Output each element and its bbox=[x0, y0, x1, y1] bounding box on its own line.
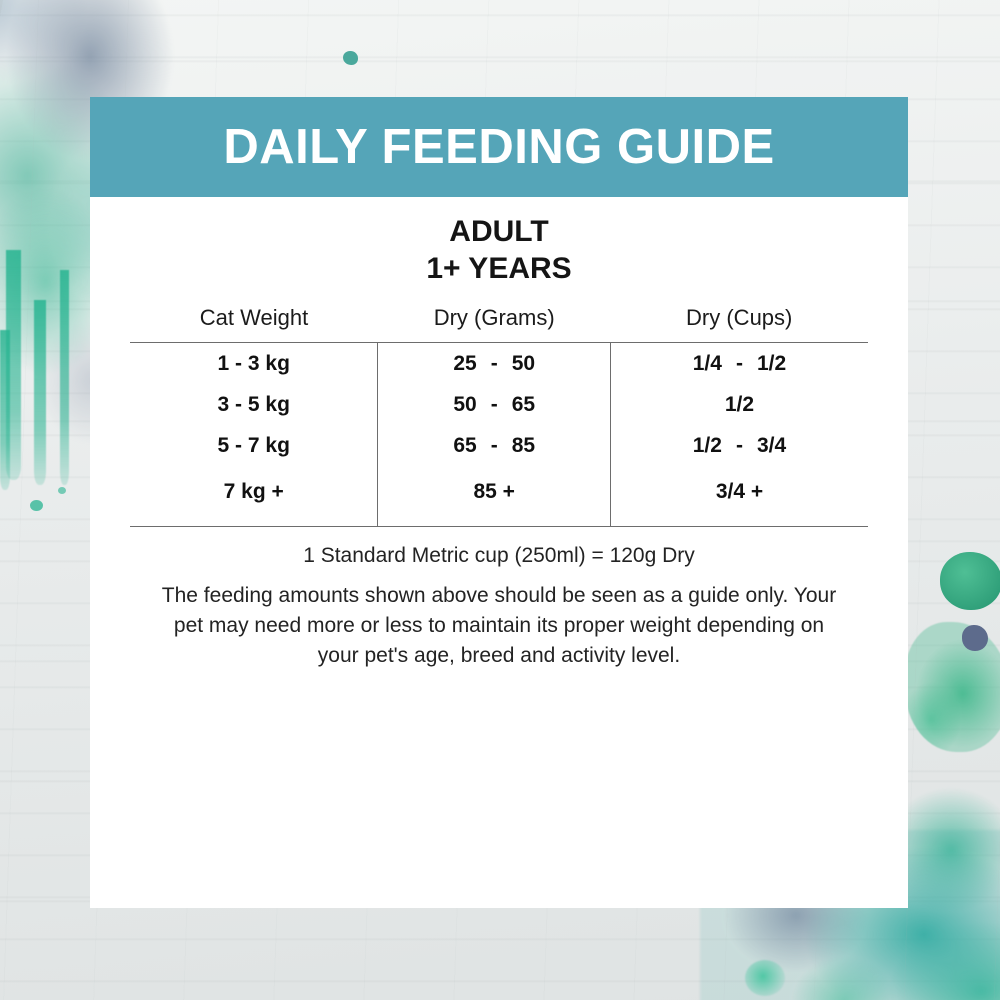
cell-dry-grams: 50 - 65 bbox=[378, 384, 610, 425]
cups-single: 1/2 bbox=[725, 393, 754, 417]
cups-high: 1/2 bbox=[757, 352, 815, 376]
cell-cat-weight: 3 - 5 kg bbox=[130, 384, 378, 425]
watercolor-right-circle bbox=[940, 552, 1000, 610]
cell-dry-grams: 65 - 85 bbox=[378, 425, 610, 466]
watercolor-drip-1 bbox=[6, 250, 21, 480]
table-row: 1 - 3 kg 25 - 50 1/4 - 1/2 bbox=[130, 343, 868, 385]
grams-range: 50 - 65 bbox=[419, 393, 569, 417]
grams-low: 50 bbox=[419, 393, 477, 417]
cell-cat-weight: 1 - 3 kg bbox=[130, 343, 378, 385]
cups-single: 3/4 + bbox=[716, 480, 763, 504]
cell-dry-grams: 25 - 50 bbox=[378, 343, 610, 385]
watercolor-drip-dot-2 bbox=[58, 487, 66, 494]
watercolor-drip-3 bbox=[60, 270, 69, 485]
column-header-cat-weight: Cat Weight bbox=[130, 305, 378, 343]
table-header: Cat Weight Dry (Grams) Dry (Cups) bbox=[130, 305, 868, 343]
grams-range: 65 - 85 bbox=[419, 434, 569, 458]
watercolor-drip-dot-1 bbox=[30, 500, 43, 511]
table-row: 3 - 5 kg 50 - 65 1/2 bbox=[130, 384, 868, 425]
watercolor-drip-2 bbox=[34, 300, 46, 485]
watercolor-right-middle bbox=[905, 622, 1000, 752]
life-stage-heading: ADULT 1+ YEARS bbox=[90, 214, 908, 287]
watercolor-dot-top bbox=[343, 51, 358, 65]
grams-range: 25 - 50 bbox=[419, 352, 569, 376]
cell-dry-cups: 1/2 - 3/4 bbox=[610, 425, 868, 466]
cell-dry-grams: 85 + bbox=[378, 466, 610, 527]
grams-single: 85 + bbox=[473, 480, 514, 504]
cup-equivalence-note: 1 Standard Metric cup (250ml) = 120g Dry bbox=[90, 544, 908, 568]
grams-high: 50 bbox=[512, 352, 570, 376]
grams-dash: - bbox=[491, 352, 498, 376]
grams-high: 85 bbox=[512, 434, 570, 458]
cups-dash: - bbox=[736, 434, 743, 458]
life-stage-secondary: 1+ YEARS bbox=[90, 251, 908, 288]
feeding-disclaimer: The feeding amounts shown above should b… bbox=[152, 581, 846, 670]
table-row: 7 kg + 85 + 3/4 + bbox=[130, 466, 868, 527]
column-header-dry-cups: Dry (Cups) bbox=[610, 305, 868, 343]
grams-low: 65 bbox=[419, 434, 477, 458]
feeding-table: Cat Weight Dry (Grams) Dry (Cups) 1 - 3 … bbox=[130, 305, 868, 527]
cups-dash: - bbox=[736, 352, 743, 376]
cups-low: 1/2 bbox=[664, 434, 722, 458]
life-stage-primary: ADULT bbox=[90, 214, 908, 251]
cups-range: 1/4 - 1/2 bbox=[664, 352, 814, 376]
grams-high: 65 bbox=[512, 393, 570, 417]
page-title: DAILY FEEDING GUIDE bbox=[223, 123, 774, 172]
cell-dry-cups: 1/4 - 1/2 bbox=[610, 343, 868, 385]
cups-low: 1/4 bbox=[664, 352, 722, 376]
column-header-dry-grams: Dry (Grams) bbox=[378, 305, 610, 343]
header-band: DAILY FEEDING GUIDE bbox=[90, 97, 908, 197]
watercolor-right-slate-dot bbox=[962, 625, 988, 651]
grams-low: 25 bbox=[419, 352, 477, 376]
table-row: 5 - 7 kg 65 - 85 1/2 - 3/4 bbox=[130, 425, 868, 466]
grams-dash: - bbox=[491, 393, 498, 417]
cups-high: 3/4 bbox=[757, 434, 815, 458]
grams-dash: - bbox=[491, 434, 498, 458]
feeding-guide-card: DAILY FEEDING GUIDE ADULT 1+ YEARS Cat W… bbox=[90, 97, 908, 908]
watercolor-drip-4 bbox=[0, 330, 10, 490]
cups-range: 1/2 - 3/4 bbox=[664, 434, 814, 458]
cell-cat-weight: 7 kg + bbox=[130, 466, 378, 527]
cell-dry-cups: 1/2 bbox=[610, 384, 868, 425]
table-header-row: Cat Weight Dry (Grams) Dry (Cups) bbox=[130, 305, 868, 343]
watercolor-bottom-small-dot bbox=[745, 960, 785, 996]
cell-cat-weight: 5 - 7 kg bbox=[130, 425, 378, 466]
cell-dry-cups: 3/4 + bbox=[610, 466, 868, 527]
table-body: 1 - 3 kg 25 - 50 1/4 - 1/2 bbox=[130, 343, 868, 527]
